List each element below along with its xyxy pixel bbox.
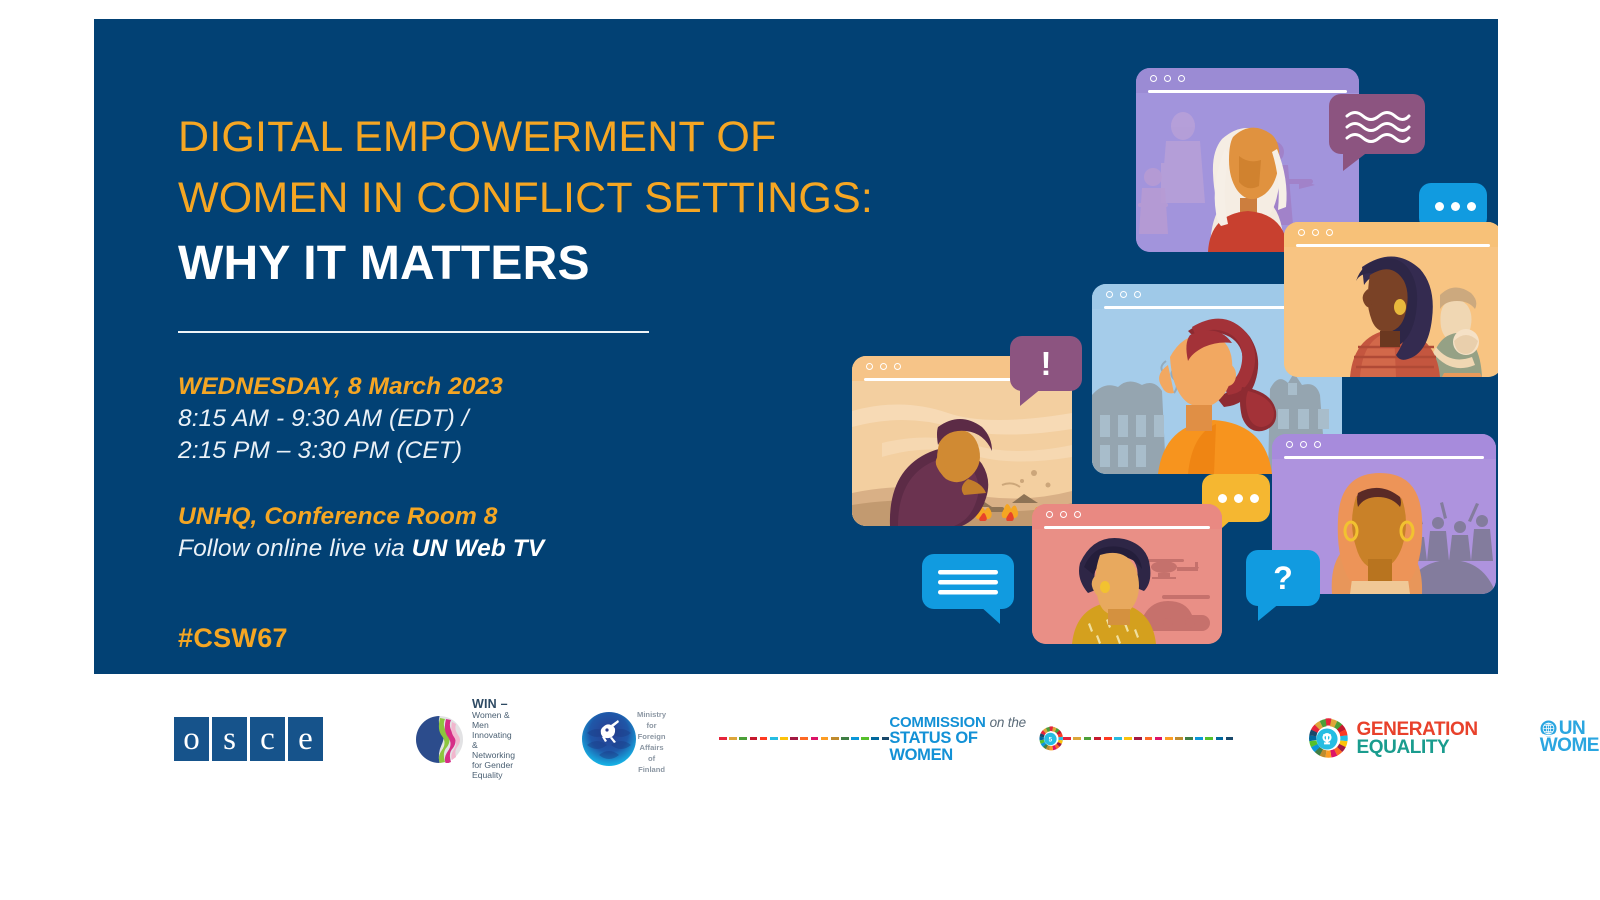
win-face-profile-icon [416,716,463,763]
text-lines-icon [922,554,1014,609]
generation-equality-text: GENERATION EQUALITY [1356,721,1477,757]
event-poster: DIGITAL EMPOWERMENT OF WOMEN IN CONFLICT… [0,0,1600,900]
scene-mother-baby-curly-hair-woman [1284,247,1498,377]
hero-panel: DIGITAL EMPOWERMENT OF WOMEN IN CONFLICT… [94,19,1498,674]
window-canvas [1032,529,1222,644]
osce-letter-c: c [250,717,285,761]
stream-prefix: Follow online live via [178,535,412,562]
svg-text:5: 5 [1048,737,1052,744]
csw-dash-bottom [1063,737,1233,740]
ge-line-2: EQUALITY [1356,739,1477,757]
window-canvas [1284,247,1498,377]
finland-globe-icon [581,711,637,767]
helicopter-silhouette [1142,559,1199,579]
window-titlebar [1136,68,1359,89]
bubble-question: ? [1246,550,1320,606]
un-women-text: UN WOMEN [1540,720,1600,755]
logo-osce: o s c e [174,717,323,761]
sdg-wheel-icon [1305,717,1349,761]
csw-line-1: COMMISSION on the [889,715,1028,730]
finland-line-2: Affairs of Finland [637,742,666,775]
logo-un-women: UN WOMEN [1540,720,1600,758]
finland-line-1: Ministry for Foreign [637,709,666,742]
logo-win: WIN – Women & Men Innovating & Networkin… [416,697,515,781]
logo-finland-mfa: Ministry for Foreign Affairs of Finland [581,704,666,775]
sdg-wheel-icon: 5 [1037,724,1064,754]
bubble-exclamation: ! [1010,336,1082,391]
win-subline-1: Women & Men Innovating & [472,711,515,751]
csw-line-1-bold: COMMISSION [889,714,985,731]
stream-channel: UN Web TV [412,535,544,562]
csw-line-2: STATUS OF WOMEN [889,730,1028,764]
finland-text-block: Ministry for Foreign Affairs of Finland [637,709,666,775]
scene-helicopter-tank-short-hair-woman [1032,529,1222,644]
osce-letter-s: s [212,717,247,761]
window-titlebar [1272,434,1496,455]
divider-rule [178,331,649,333]
osce-letter-e: e [288,717,323,761]
csw-dash-top [719,737,889,740]
logo-commission-status-of-women: COMMISSION on the STATUS OF WOMEN [719,710,1233,769]
mother-and-baby [1430,287,1482,377]
un-women-line-2: WOMEN [1540,737,1600,754]
bubble-text-lines [922,554,1014,609]
bubble-wavy-lines [1329,94,1425,154]
exclamation-glyph: ! [1010,336,1082,391]
window-short-hair-woman [1032,504,1222,644]
illustration-collage: ! [734,19,1498,674]
logo-generation-equality: GENERATION EQUALITY [1305,717,1477,761]
partner-logo-strip: o s c e WIN – Women & Men Innovating & N… [94,674,1498,804]
osce-letter-o: o [174,717,209,761]
window-titlebar [1032,504,1222,525]
csw-words: COMMISSION on the STATUS OF WOMEN [889,715,1028,764]
wavy-lines-icon [1329,94,1425,154]
window-titlebar [1284,222,1498,243]
three-dots-icon [1435,202,1476,211]
win-text-block: WIN – Women & Men Innovating & Networkin… [472,697,515,781]
csw-line-1-italic: on the [990,715,1026,730]
question-glyph: ? [1246,550,1320,606]
window-curly-hair-woman [1284,222,1498,377]
three-dots-icon [1218,494,1259,503]
win-subline-2: Networking for Gender Equality [472,751,515,781]
win-headline: WIN – [472,697,515,712]
csw-wordmark-row: COMMISSION on the STATUS OF WOMEN [889,715,1063,764]
